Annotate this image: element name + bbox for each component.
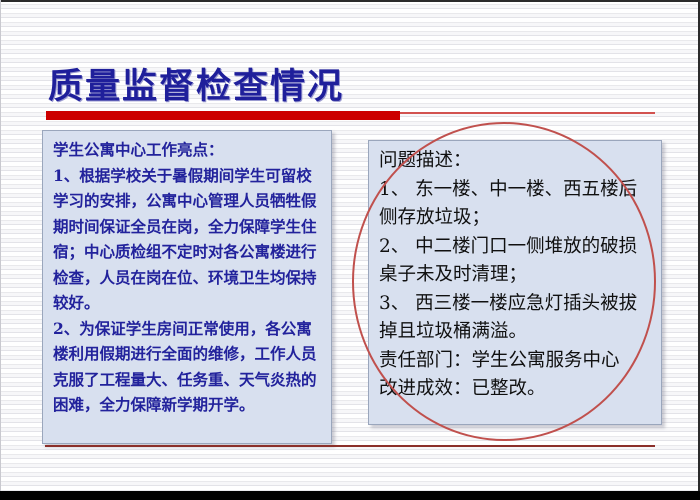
page-title: 质量监督检查情况: [48, 58, 344, 109]
title-underline-bar: [46, 111, 400, 120]
issues-list: 1、 东一楼、中一楼、西五楼后侧存放垃圾； 2、 中二楼门口一侧堆放的破损桌子未…: [379, 176, 653, 347]
slide-frame-top-border: [0, 0, 700, 2]
highlights-panel: 学生公寓中心工作亮点： 1、根据学校关于暑假期间学生可留校学习的安排，公寓中心管…: [42, 130, 332, 444]
title-underline-rule: [400, 112, 655, 114]
slide-canvas: 质量监督检查情况 学生公寓中心工作亮点： 1、根据学校关于暑假期间学生可留校学习…: [0, 0, 700, 500]
slide-frame-left-border: [0, 0, 1, 500]
slide-frame-bottom-border: [0, 491, 700, 500]
issues-panel: 问题描述： 1、 东一楼、中一楼、西五楼后侧存放垃圾； 2、 中二楼门口一侧堆放…: [368, 140, 662, 425]
highlights-heading: 学生公寓中心工作亮点：: [53, 137, 323, 163]
highlights-body: 1、根据学校关于暑假期间学生可留校学习的安排，公寓中心管理人员牺牲假期时间保证全…: [53, 163, 323, 418]
improvement-result: 改进成效：已整改。: [379, 375, 653, 404]
responsible-department: 责任部门：学生公寓服务中心: [379, 347, 653, 376]
issues-heading: 问题描述：: [379, 147, 653, 176]
bottom-divider-rule: [45, 445, 655, 447]
